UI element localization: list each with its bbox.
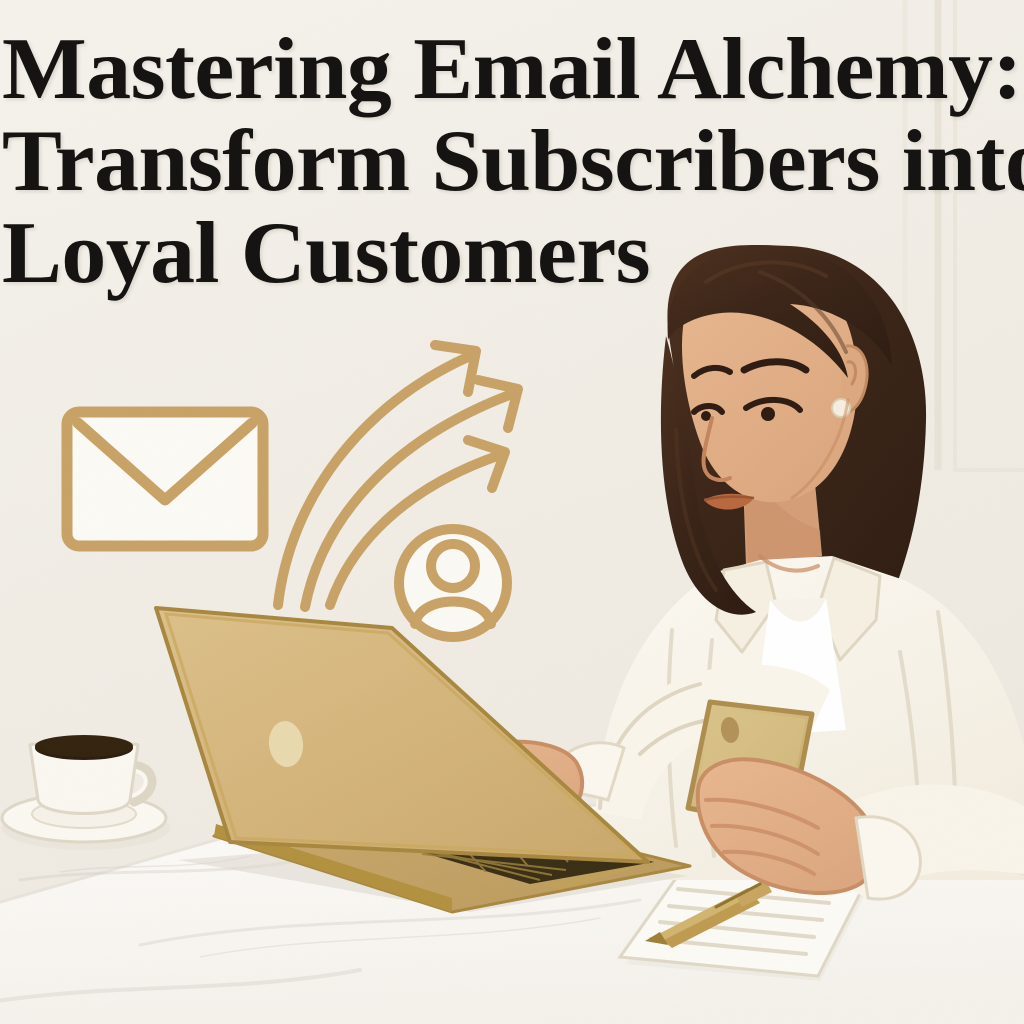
user-avatar-icon — [399, 529, 507, 637]
envelope-icon — [67, 412, 263, 546]
illustration-canvas: Mastering Email Alchemy: Transform Subsc… — [0, 0, 1024, 1024]
scene-illustration — [0, 0, 1024, 1024]
